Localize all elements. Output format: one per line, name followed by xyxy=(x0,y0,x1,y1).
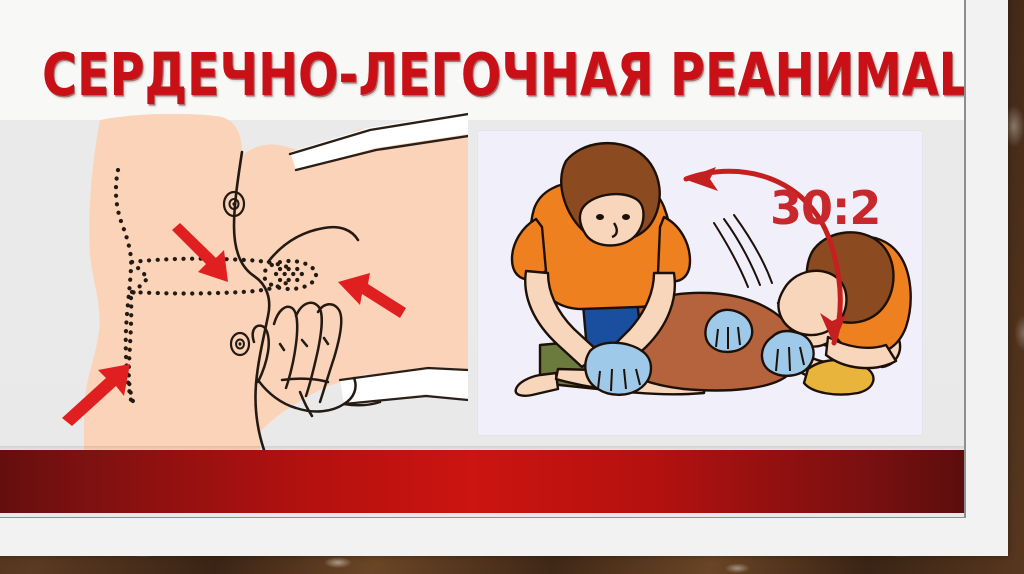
breath-glove-forehead xyxy=(762,331,814,376)
two-rescuer-cpr-photo xyxy=(478,131,922,435)
slide-canvas: СЕРДЕЧНО-ЛЕГОЧНАЯ РЕАНИМАЦИЯ xyxy=(0,0,964,517)
rescuer-glove-hands xyxy=(585,343,651,395)
chest-compression-landmark-diagram xyxy=(28,112,468,452)
slide-white-frame: СЕРДЕЧНО-ЛЕГОЧНАЯ РЕАНИМАЦИЯ xyxy=(0,0,1008,556)
compression-ventilation-ratio-label: 30:2 xyxy=(770,185,880,231)
torso-skin-shape xyxy=(84,114,468,452)
footer-red-band xyxy=(0,450,964,513)
page-title: СЕРДЕЧНО-ЛЕГОЧНАЯ РЕАНИМАЦИЯ xyxy=(42,42,932,110)
rescuer-face xyxy=(580,194,644,245)
